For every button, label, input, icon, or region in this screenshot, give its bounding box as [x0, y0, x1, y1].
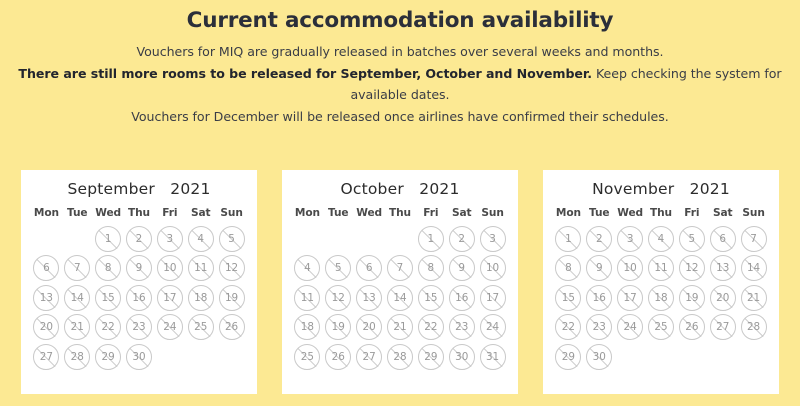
day-unavailable: 4: [648, 226, 674, 252]
day-grid: 1234567891011121314151617181920212223242…: [31, 224, 247, 372]
weekday-label-tue: Tue: [323, 207, 354, 219]
day-cell: 11: [185, 254, 216, 284]
weekday-label-wed: Wed: [615, 207, 646, 219]
day-number: 10: [163, 263, 176, 273]
day-unavailable: 3: [480, 226, 506, 252]
page-title: Current accommodation availability: [0, 7, 800, 35]
day-cell: 30: [124, 342, 155, 372]
day-unavailable: 24: [157, 314, 183, 340]
day-unavailable: 27: [356, 344, 382, 370]
intro-line-3-text: Vouchers for December will be released o…: [131, 109, 668, 124]
day-cell: 15: [553, 283, 584, 313]
day-number: 27: [363, 352, 376, 362]
day-unavailable: 26: [679, 314, 705, 340]
day-unavailable: 30: [586, 344, 612, 370]
day-unavailable: 8: [418, 255, 444, 281]
day-number: 25: [301, 352, 314, 362]
day-unavailable: 25: [648, 314, 674, 340]
day-number: 30: [455, 352, 468, 362]
day-cell: 1: [415, 224, 446, 254]
day-unavailable: 28: [64, 344, 90, 370]
day-unavailable: 26: [219, 314, 245, 340]
day-unavailable: 4: [188, 226, 214, 252]
day-unavailable: 1: [555, 226, 581, 252]
day-cell: 13: [354, 283, 385, 313]
day-number: 28: [393, 352, 406, 362]
day-unavailable: 22: [95, 314, 121, 340]
day-cell: 4: [646, 224, 677, 254]
day-cell: 14: [62, 283, 93, 313]
day-cell: 16: [124, 283, 155, 313]
day-cell: 13: [31, 283, 62, 313]
day-number: 11: [654, 263, 667, 273]
day-unavailable: 10: [157, 255, 183, 281]
day-cell: 9: [124, 254, 155, 284]
day-number: 1: [565, 234, 572, 244]
day-number: 30: [593, 352, 606, 362]
day-number: 26: [685, 322, 698, 332]
day-cell: 19: [676, 283, 707, 313]
weekday-label-fri: Fri: [676, 207, 707, 219]
day-number: 15: [562, 293, 575, 303]
weekday-label-sun: Sun: [216, 207, 247, 219]
day-number: 17: [624, 293, 637, 303]
weekday-label-fri: Fri: [415, 207, 446, 219]
day-number: 29: [424, 352, 437, 362]
day-number: 3: [627, 234, 634, 244]
day-number: 2: [458, 234, 465, 244]
day-unavailable: 20: [356, 314, 382, 340]
day-number: 10: [624, 263, 637, 273]
day-unavailable: 25: [188, 314, 214, 340]
day-cell: 26: [216, 313, 247, 343]
day-unavailable: 19: [219, 285, 245, 311]
day-unavailable: 21: [741, 285, 767, 311]
day-cell: 9: [446, 254, 477, 284]
day-unavailable: 31: [480, 344, 506, 370]
day-number: 25: [654, 322, 667, 332]
day-unavailable: 12: [219, 255, 245, 281]
day-unavailable: 11: [294, 285, 320, 311]
day-number: 23: [593, 322, 606, 332]
day-number: 16: [132, 293, 145, 303]
day-number: 27: [716, 322, 729, 332]
day-unavailable: 13: [356, 285, 382, 311]
day-number: 14: [393, 293, 406, 303]
day-cell: 3: [154, 224, 185, 254]
day-cell: 14: [385, 283, 416, 313]
day-cell: 30: [584, 342, 615, 372]
day-number: 3: [167, 234, 174, 244]
day-unavailable: 18: [648, 285, 674, 311]
day-cell: 21: [62, 313, 93, 343]
weekday-label-thu: Thu: [124, 207, 155, 219]
day-cell: 13: [707, 254, 738, 284]
calendar-card-november: November 2021MonTueWedThuFriSatSun123456…: [543, 170, 779, 394]
day-number: 18: [194, 293, 207, 303]
weekday-header-row: MonTueWedThuFriSatSun: [31, 207, 247, 219]
day-unavailable: 15: [555, 285, 581, 311]
intro-line-2-bold: There are still more rooms to be release…: [18, 66, 592, 81]
day-cell: 22: [415, 313, 446, 343]
day-cell: 20: [707, 283, 738, 313]
day-number: 21: [747, 293, 760, 303]
weekday-label-mon: Mon: [292, 207, 323, 219]
weekday-label-tue: Tue: [584, 207, 615, 219]
day-unavailable: 26: [325, 344, 351, 370]
day-unavailable: 17: [480, 285, 506, 311]
day-cell: 5: [216, 224, 247, 254]
day-cell: 29: [93, 342, 124, 372]
day-unavailable: 6: [710, 226, 736, 252]
day-number: 22: [424, 322, 437, 332]
day-cell: 28: [385, 342, 416, 372]
day-number: 13: [716, 263, 729, 273]
day-number: 2: [136, 234, 143, 244]
day-unavailable: 5: [219, 226, 245, 252]
day-number: 5: [335, 263, 342, 273]
day-cell: 3: [615, 224, 646, 254]
weekday-label-fri: Fri: [154, 207, 185, 219]
day-unavailable: 15: [95, 285, 121, 311]
day-cell: 17: [477, 283, 508, 313]
day-number: 29: [102, 352, 115, 362]
day-number: 11: [194, 263, 207, 273]
day-cell: 18: [292, 313, 323, 343]
day-cell: 23: [124, 313, 155, 343]
weekday-label-wed: Wed: [354, 207, 385, 219]
day-number: 22: [102, 322, 115, 332]
day-unavailable: 2: [126, 226, 152, 252]
day-unavailable: 22: [555, 314, 581, 340]
day-number: 18: [654, 293, 667, 303]
calendar-month-title: September 2021: [31, 178, 247, 198]
day-number: 7: [74, 263, 81, 273]
day-unavailable: 22: [418, 314, 444, 340]
day-cell: 4: [292, 254, 323, 284]
day-unavailable: 2: [449, 226, 475, 252]
weekday-header-row: MonTueWedThuFriSatSun: [553, 207, 769, 219]
day-cell: 1: [553, 224, 584, 254]
day-cell: 29: [415, 342, 446, 372]
day-cell: 8: [415, 254, 446, 284]
intro-line-2: There are still more rooms to be release…: [0, 63, 800, 106]
day-number: 21: [71, 322, 84, 332]
day-number: 26: [332, 352, 345, 362]
day-unavailable: 24: [617, 314, 643, 340]
day-unavailable: 29: [95, 344, 121, 370]
day-unavailable: 1: [95, 226, 121, 252]
day-unavailable: 30: [126, 344, 152, 370]
day-number: 2: [596, 234, 603, 244]
day-number: 15: [424, 293, 437, 303]
day-number: 3: [489, 234, 496, 244]
day-cell: 17: [615, 283, 646, 313]
day-unavailable: 8: [95, 255, 121, 281]
day-number: 7: [750, 234, 757, 244]
day-number: 9: [136, 263, 143, 273]
day-number: 1: [105, 234, 112, 244]
day-unavailable: 7: [741, 226, 767, 252]
day-cell: 10: [154, 254, 185, 284]
day-cell: 29: [553, 342, 584, 372]
day-cell: 2: [584, 224, 615, 254]
page-header: Current accommodation availability Vouch…: [0, 0, 800, 128]
day-cell: 16: [584, 283, 615, 313]
day-unavailable: 13: [33, 285, 59, 311]
day-cell: 2: [124, 224, 155, 254]
day-number: 24: [163, 322, 176, 332]
weekday-label-thu: Thu: [385, 207, 416, 219]
day-number: 23: [455, 322, 468, 332]
day-unavailable: 21: [64, 314, 90, 340]
day-cell: 18: [646, 283, 677, 313]
calendar-card-october: October 2021MonTueWedThuFriSatSun1234567…: [282, 170, 518, 394]
calendar-card-september: September 2021MonTueWedThuFriSatSun12345…: [21, 170, 257, 394]
day-number: 19: [225, 293, 238, 303]
day-cell: 6: [354, 254, 385, 284]
day-number: 18: [301, 322, 314, 332]
day-number: 29: [562, 352, 575, 362]
day-cell: 15: [415, 283, 446, 313]
day-cell: 7: [62, 254, 93, 284]
day-unavailable: 10: [617, 255, 643, 281]
day-number: 12: [685, 263, 698, 273]
day-cell: 11: [292, 283, 323, 313]
day-cell: 8: [553, 254, 584, 284]
day-cell: 5: [323, 254, 354, 284]
calendar-month-title: October 2021: [292, 178, 508, 198]
day-unavailable: 16: [126, 285, 152, 311]
day-cell: 24: [154, 313, 185, 343]
day-number: 22: [562, 322, 575, 332]
weekday-label-sat: Sat: [185, 207, 216, 219]
day-number: 28: [71, 352, 84, 362]
day-cell: 19: [216, 283, 247, 313]
day-unavailable: 5: [679, 226, 705, 252]
day-cell: 8: [93, 254, 124, 284]
day-unavailable: 7: [387, 255, 413, 281]
day-number: 16: [593, 293, 606, 303]
day-unavailable: 12: [325, 285, 351, 311]
day-unavailable: 16: [586, 285, 612, 311]
day-unavailable: 7: [64, 255, 90, 281]
day-cell: 23: [584, 313, 615, 343]
intro-line-1-text: Vouchers for MIQ are gradually released …: [137, 44, 664, 59]
day-number: 8: [105, 263, 112, 273]
day-unavailable: 18: [294, 314, 320, 340]
day-number: 1: [428, 234, 435, 244]
day-number: 27: [40, 352, 53, 362]
day-unavailable: 29: [555, 344, 581, 370]
day-cell: 27: [31, 342, 62, 372]
day-cell: 4: [185, 224, 216, 254]
day-number: 8: [565, 263, 572, 273]
day-number: 17: [163, 293, 176, 303]
day-number: 24: [486, 322, 499, 332]
day-cell: 15: [93, 283, 124, 313]
day-cell: 25: [646, 313, 677, 343]
day-cell: 17: [154, 283, 185, 313]
calendar-grid: September 2021MonTueWedThuFriSatSun12345…: [21, 170, 780, 394]
day-number: 14: [747, 263, 760, 273]
day-number: 5: [228, 234, 235, 244]
day-cell: 1: [93, 224, 124, 254]
weekday-label-tue: Tue: [62, 207, 93, 219]
day-unavailable: 6: [33, 255, 59, 281]
day-unavailable: 3: [157, 226, 183, 252]
day-grid: 1234567891011121314151617181920212223242…: [292, 224, 508, 372]
day-unavailable: 9: [586, 255, 612, 281]
day-cell: 14: [738, 254, 769, 284]
day-unavailable: 29: [418, 344, 444, 370]
day-unavailable: 15: [418, 285, 444, 311]
availability-page: Current accommodation availability Vouch…: [0, 0, 800, 406]
day-cell: 18: [185, 283, 216, 313]
day-unavailable: 13: [710, 255, 736, 281]
day-cell: 20: [354, 313, 385, 343]
day-unavailable: 21: [387, 314, 413, 340]
day-cell: 24: [477, 313, 508, 343]
weekday-label-sat: Sat: [707, 207, 738, 219]
day-unavailable: 1: [418, 226, 444, 252]
day-unavailable: 11: [188, 255, 214, 281]
day-cell: 25: [185, 313, 216, 343]
day-number: 25: [194, 322, 207, 332]
day-cell: 23: [446, 313, 477, 343]
day-unavailable: 25: [294, 344, 320, 370]
day-number: 9: [458, 263, 465, 273]
day-unavailable: 5: [325, 255, 351, 281]
day-number: 7: [397, 263, 404, 273]
day-unavailable: 12: [679, 255, 705, 281]
day-number: 28: [747, 322, 760, 332]
intro-text-block: Vouchers for MIQ are gradually released …: [0, 41, 800, 128]
day-unavailable: 6: [356, 255, 382, 281]
day-cell: 3: [477, 224, 508, 254]
weekday-label-sun: Sun: [477, 207, 508, 219]
weekday-header-row: MonTueWedThuFriSatSun: [292, 207, 508, 219]
day-number: 24: [624, 322, 637, 332]
day-unavailable: 20: [710, 285, 736, 311]
day-unavailable: 20: [33, 314, 59, 340]
day-unavailable: 17: [617, 285, 643, 311]
day-number: 12: [225, 263, 238, 273]
day-unavailable: 27: [710, 314, 736, 340]
day-cell: 11: [646, 254, 677, 284]
intro-line-1: Vouchers for MIQ are gradually released …: [0, 41, 800, 63]
day-unavailable: 27: [33, 344, 59, 370]
day-cell: 2: [446, 224, 477, 254]
day-unavailable: 10: [480, 255, 506, 281]
day-cell: 6: [707, 224, 738, 254]
day-number: 30: [132, 352, 145, 362]
day-cell: 12: [323, 283, 354, 313]
day-number: 21: [393, 322, 406, 332]
day-unavailable: 2: [586, 226, 612, 252]
day-cell: 24: [615, 313, 646, 343]
day-cell: 9: [584, 254, 615, 284]
day-unavailable: 23: [449, 314, 475, 340]
day-cell: 10: [615, 254, 646, 284]
day-number: 11: [301, 293, 314, 303]
day-unavailable: 3: [617, 226, 643, 252]
day-cell: 20: [31, 313, 62, 343]
day-cell: 22: [553, 313, 584, 343]
day-unavailable: 14: [741, 255, 767, 281]
day-number: 4: [197, 234, 204, 244]
day-unavailable: 9: [126, 255, 152, 281]
day-unavailable: 24: [480, 314, 506, 340]
day-number: 12: [332, 293, 345, 303]
day-number: 9: [596, 263, 603, 273]
day-number: 23: [132, 322, 145, 332]
day-unavailable: 17: [157, 285, 183, 311]
day-number: 19: [332, 322, 345, 332]
day-number: 13: [363, 293, 376, 303]
day-number: 19: [685, 293, 698, 303]
day-unavailable: 30: [449, 344, 475, 370]
day-cell: 12: [216, 254, 247, 284]
day-cell: 6: [31, 254, 62, 284]
day-number: 17: [486, 293, 499, 303]
weekday-label-thu: Thu: [646, 207, 677, 219]
day-unavailable: 16: [449, 285, 475, 311]
day-number: 20: [40, 322, 53, 332]
day-cell: 7: [738, 224, 769, 254]
day-number: 16: [455, 293, 468, 303]
day-number: 6: [366, 263, 373, 273]
day-cell: 25: [292, 342, 323, 372]
day-unavailable: 8: [555, 255, 581, 281]
day-cell: 26: [323, 342, 354, 372]
day-cell: 27: [354, 342, 385, 372]
weekday-label-mon: Mon: [31, 207, 62, 219]
day-cell: 10: [477, 254, 508, 284]
day-unavailable: 4: [294, 255, 320, 281]
day-unavailable: 19: [325, 314, 351, 340]
day-cell: 21: [385, 313, 416, 343]
day-unavailable: 23: [586, 314, 612, 340]
day-number: 14: [71, 293, 84, 303]
day-number: 6: [719, 234, 726, 244]
day-cell: 28: [62, 342, 93, 372]
day-number: 5: [689, 234, 696, 244]
day-unavailable: 14: [387, 285, 413, 311]
day-number: 20: [716, 293, 729, 303]
day-cell: 5: [676, 224, 707, 254]
day-number: 4: [304, 263, 311, 273]
weekday-label-wed: Wed: [93, 207, 124, 219]
day-cell: 31: [477, 342, 508, 372]
day-number: 13: [40, 293, 53, 303]
day-unavailable: 11: [648, 255, 674, 281]
day-cell: 21: [738, 283, 769, 313]
day-cell: 28: [738, 313, 769, 343]
day-cell: 19: [323, 313, 354, 343]
day-number: 10: [486, 263, 499, 273]
weekday-label-sat: Sat: [446, 207, 477, 219]
day-unavailable: 28: [387, 344, 413, 370]
day-cell: 16: [446, 283, 477, 313]
day-cell: 27: [707, 313, 738, 343]
day-cell: 12: [676, 254, 707, 284]
day-number: 4: [658, 234, 665, 244]
day-cell: 26: [676, 313, 707, 343]
day-unavailable: 19: [679, 285, 705, 311]
day-number: 8: [428, 263, 435, 273]
calendar-month-title: November 2021: [553, 178, 769, 198]
